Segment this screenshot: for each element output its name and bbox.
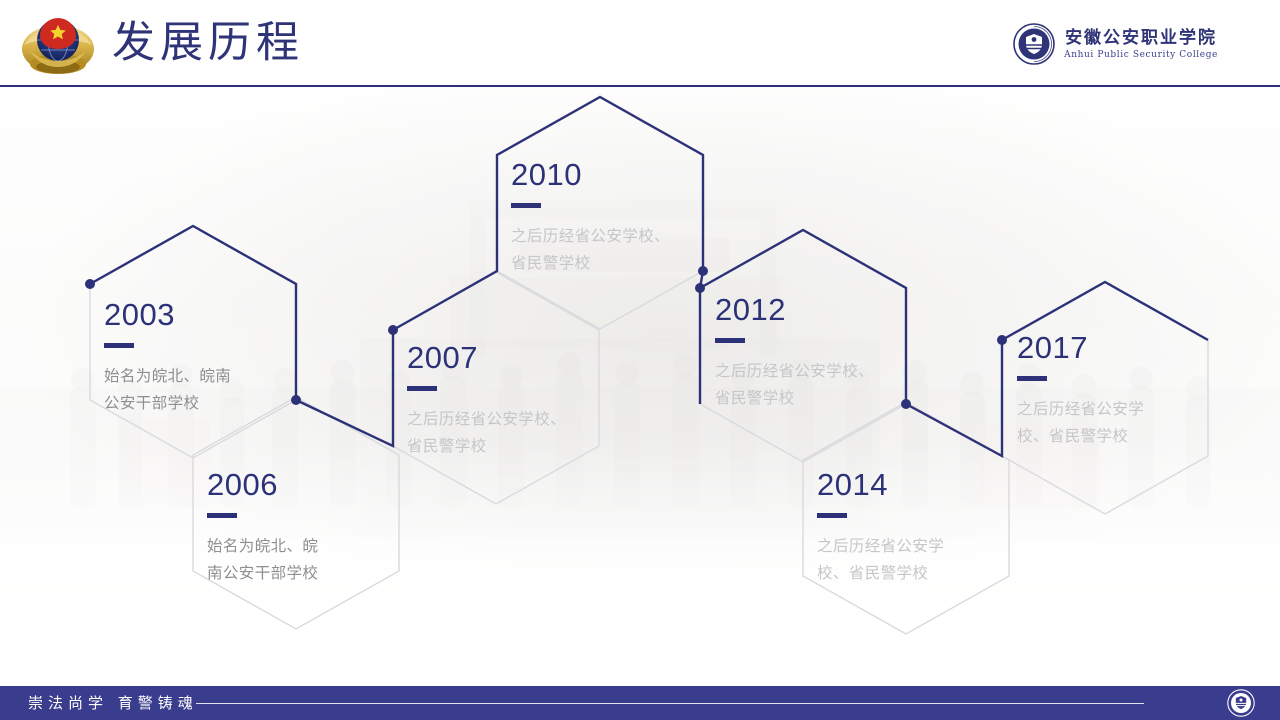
- college-name-en: Anhui Public Security College: [1064, 49, 1218, 61]
- node-description: 始名为皖北、皖 南公安干部学校: [207, 533, 318, 587]
- node-accent-bar: [715, 338, 745, 343]
- footer-motto: 崇法尚学 育警铸魂: [28, 694, 198, 713]
- node-accent-bar: [817, 513, 847, 518]
- timeline-node-2007[interactable]: 2007 之后历经省公安学校、 省民警学校: [407, 341, 566, 460]
- node-accent-bar: [511, 203, 541, 208]
- timeline-node-2003[interactable]: 2003 始名为皖北、皖南 公安干部学校: [104, 298, 231, 417]
- slide-header: 发展历程 安徽公安职业学院 Anhui Public Security Coll…: [0, 0, 1280, 87]
- node-year: 2010: [511, 158, 670, 192]
- node-accent-bar: [207, 513, 237, 518]
- node-description: 始名为皖北、皖南 公安干部学校: [104, 363, 231, 417]
- timeline-node-2014[interactable]: 2014 之后历经省公安学 校、省民警学校: [817, 468, 944, 587]
- node-accent-bar: [1017, 376, 1047, 381]
- node-accent-bar: [104, 343, 134, 348]
- footer-rule: [196, 703, 1144, 704]
- node-year: 2012: [715, 293, 874, 327]
- node-description: 之后历经省公安学校、 省民警学校: [511, 223, 670, 277]
- node-description: 之后历经省公安学校、 省民警学校: [407, 406, 566, 460]
- college-name-cn: 安徽公安职业学院: [1065, 28, 1217, 49]
- node-description: 之后历经省公安学 校、省民警学校: [817, 533, 944, 587]
- timeline-node-2012[interactable]: 2012 之后历经省公安学校、 省民警学校: [715, 293, 874, 412]
- timeline-node-2017[interactable]: 2017 之后历经省公安学 校、省民警学校: [1017, 331, 1144, 450]
- node-description: 之后历经省公安学校、 省民警学校: [715, 358, 874, 412]
- slide-canvas: 发展历程 安徽公安职业学院 Anhui Public Security Coll…: [0, 0, 1280, 720]
- footer-college-seal-icon: [1227, 689, 1255, 717]
- header-divider: [0, 85, 1280, 87]
- police-badge-icon: [16, 9, 100, 79]
- timeline: 2003 始名为皖北、皖南 公安干部学校 2006 始名为皖北、皖 南公安干部学…: [0, 0, 1280, 720]
- node-year: 2003: [104, 298, 231, 332]
- timeline-node-2006[interactable]: 2006 始名为皖北、皖 南公安干部学校: [207, 468, 318, 587]
- node-year: 2017: [1017, 331, 1144, 365]
- college-logo: 安徽公安职业学院 Anhui Public Security College: [1013, 20, 1218, 68]
- college-seal-icon: [1013, 23, 1055, 65]
- college-names: 安徽公安职业学院 Anhui Public Security College: [1064, 28, 1218, 61]
- node-accent-bar: [407, 386, 437, 391]
- slide-footer: 崇法尚学 育警铸魂: [0, 686, 1280, 720]
- page-title: 发展历程: [112, 16, 304, 70]
- timeline-node-2010[interactable]: 2010 之后历经省公安学校、 省民警学校: [511, 158, 670, 277]
- node-description: 之后历经省公安学 校、省民警学校: [1017, 396, 1144, 450]
- node-year: 2006: [207, 468, 318, 502]
- node-year: 2014: [817, 468, 944, 502]
- node-year: 2007: [407, 341, 566, 375]
